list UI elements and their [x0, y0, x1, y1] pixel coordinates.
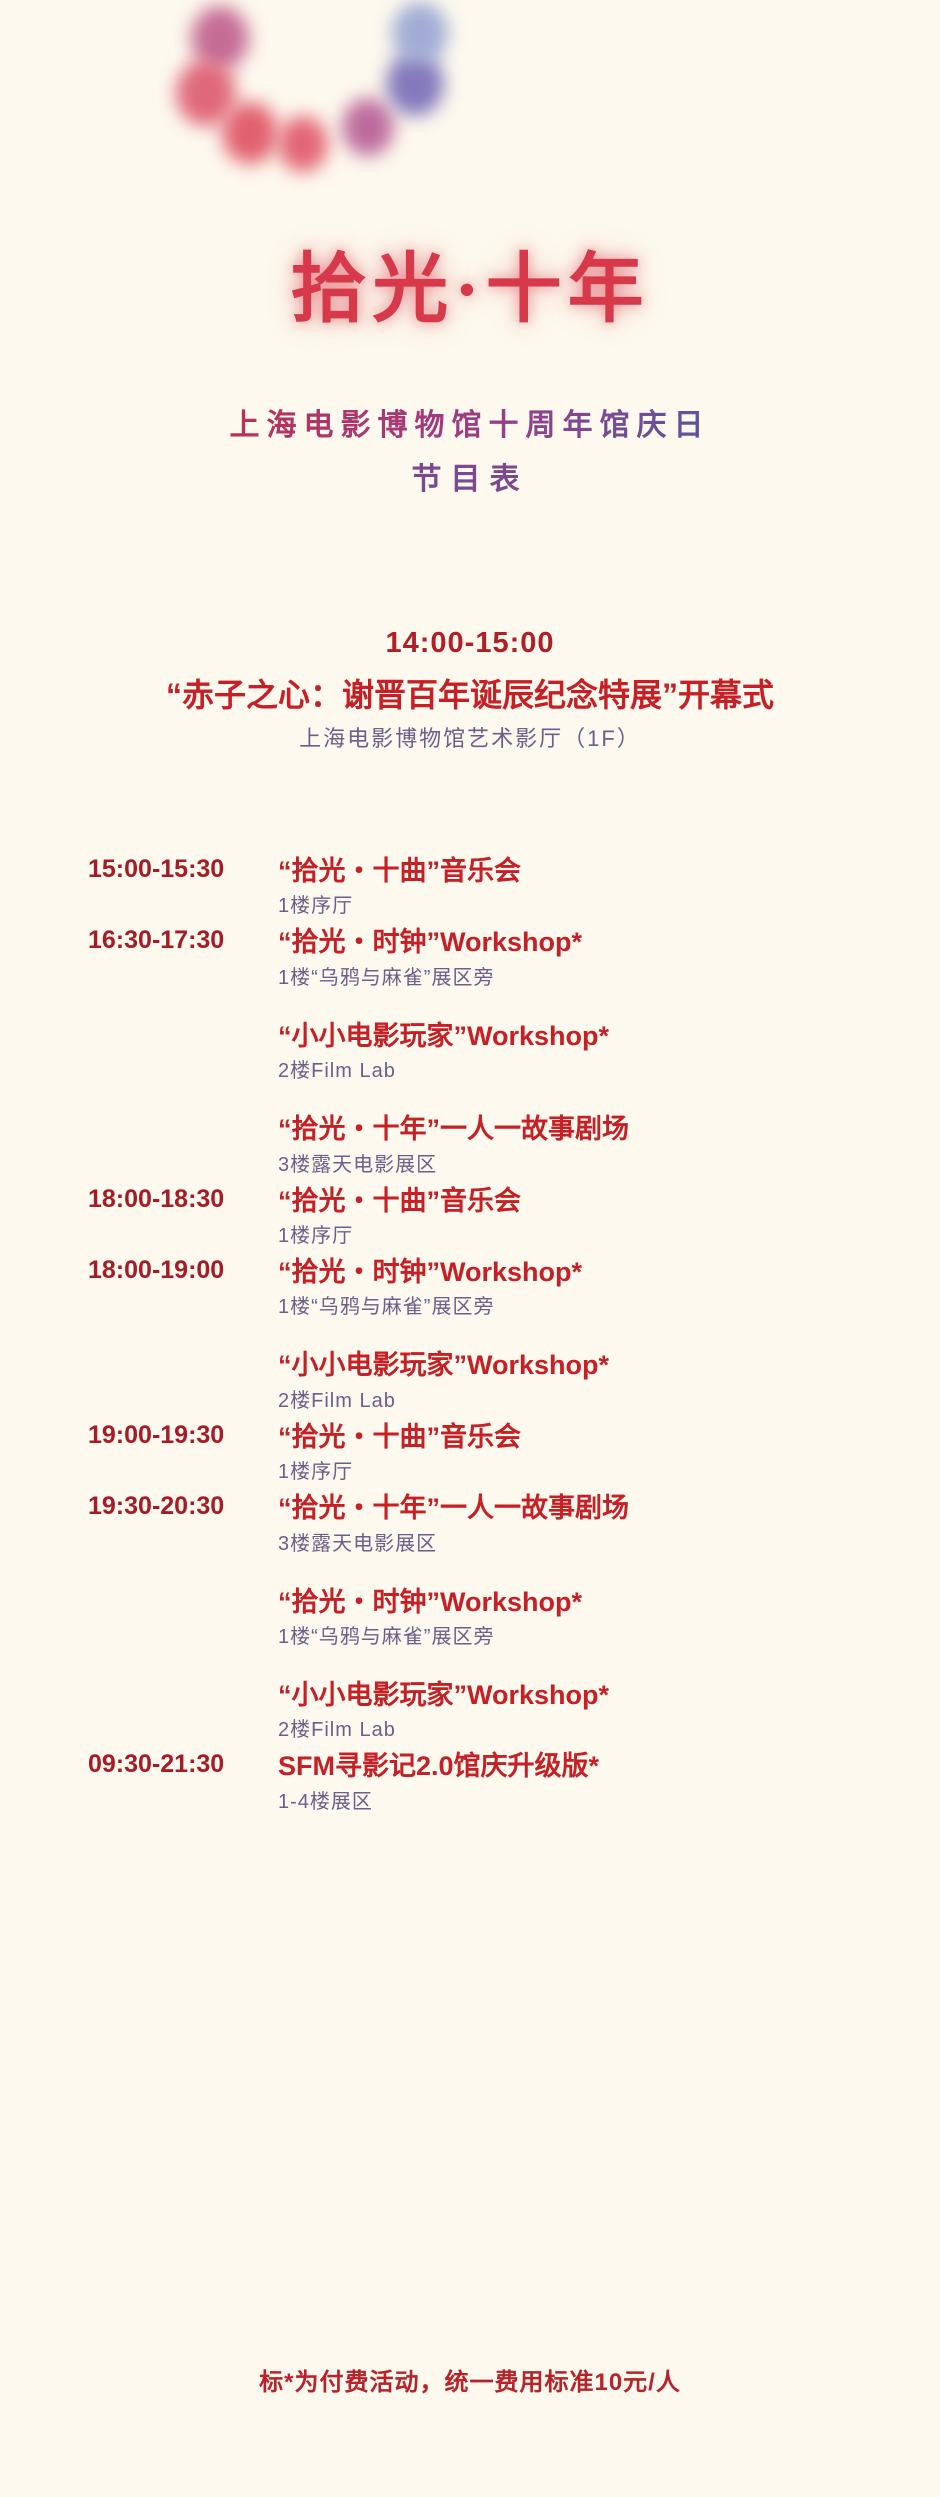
schedule-item-venue: 3楼露天电影展区: [278, 1532, 940, 1556]
schedule-item-title: “拾光・十曲”音乐会: [278, 1185, 940, 1217]
schedule-item-venue: 1-4楼展区: [278, 1790, 940, 1814]
schedule-item-venue: 1楼序厅: [278, 1460, 940, 1484]
schedule-item-title: “拾光・十年”一人一故事剧场: [278, 1492, 940, 1524]
schedule-item[interactable]: “小小电影玩家”Workshop*2楼Film Lab: [278, 1020, 940, 1083]
schedule-item-title: “拾光・十曲”音乐会: [278, 1421, 940, 1453]
schedule-item[interactable]: “小小电影玩家”Workshop*2楼Film Lab: [278, 1679, 940, 1742]
schedule-item-title: “拾光・时钟”Workshop*: [278, 1256, 940, 1288]
schedule-item-venue: 2楼Film Lab: [278, 1389, 940, 1413]
schedule-items: “拾光・时钟”Workshop*1楼“乌鸦与麻雀”展区旁“小小电影玩家”Work…: [278, 926, 940, 1176]
schedule-item-venue: 1楼序厅: [278, 894, 940, 918]
footer-note: 标*为付费活动，统一费用标准10元/人: [0, 2362, 940, 2397]
schedule-item-venue: 3楼露天电影展区: [278, 1153, 940, 1177]
schedule-item-title: “拾光・时钟”Workshop*: [278, 1586, 940, 1618]
schedule-item[interactable]: “拾光・十年”一人一故事剧场3楼露天电影展区: [278, 1113, 940, 1176]
schedule-time: 09:30-21:30: [0, 1750, 278, 1779]
schedule-item[interactable]: “拾光・十曲”音乐会1楼序厅: [278, 1185, 940, 1248]
decorative-dot-arc: [0, 0, 940, 220]
decorative-dot-6: [386, 52, 444, 116]
schedule-item-title: “小小电影玩家”Workshop*: [278, 1020, 940, 1052]
schedule-item-venue: 1楼序厅: [278, 1224, 940, 1248]
decorative-dot-3: [222, 102, 278, 164]
schedule-item-title: SFM寻影记2.0馆庆升级版*: [278, 1750, 940, 1782]
schedule-item[interactable]: “拾光・时钟”Workshop*1楼“乌鸦与麻雀”展区旁: [278, 1586, 940, 1649]
schedule-item-venue: 2楼Film Lab: [278, 1718, 940, 1742]
schedule-item[interactable]: “拾光・十曲”音乐会1楼序厅: [278, 855, 940, 918]
featured-event-venue: 上海电影博物馆艺术影厅（1F）: [0, 725, 940, 754]
schedule-item[interactable]: “拾光・十年”一人一故事剧场3楼露天电影展区: [278, 1492, 940, 1555]
schedule-time: 19:30-20:30: [0, 1492, 278, 1521]
decorative-dot-1: [191, 6, 249, 70]
featured-event-time: 14:00-15:00: [0, 625, 940, 661]
schedule-group: 16:30-17:30“拾光・时钟”Workshop*1楼“乌鸦与麻雀”展区旁“…: [0, 926, 940, 1176]
schedule-list: 15:00-15:30“拾光・十曲”音乐会1楼序厅16:30-17:30“拾光・…: [0, 855, 940, 1822]
schedule-item[interactable]: “小小电影玩家”Workshop*2楼Film Lab: [278, 1349, 940, 1412]
featured-event-title: “赤子之心：谢晋百年诞辰纪念特展”开幕式: [0, 675, 940, 715]
schedule-item-venue: 2楼Film Lab: [278, 1059, 940, 1083]
schedule-time: 19:00-19:30: [0, 1421, 278, 1450]
schedule-item-title: “拾光・十年”一人一故事剧场: [278, 1113, 940, 1145]
schedule-item-venue: 1楼“乌鸦与麻雀”展区旁: [278, 1625, 940, 1649]
schedule-items: “拾光・十曲”音乐会1楼序厅: [278, 855, 940, 918]
decorative-dot-4: [278, 116, 328, 172]
schedule-group: 19:00-19:30“拾光・十曲”音乐会1楼序厅: [0, 1421, 940, 1484]
subtitle-line-2: 节目表: [0, 462, 940, 498]
schedule-time: 18:00-18:30: [0, 1185, 278, 1214]
page-title: 拾光·十年: [0, 252, 940, 328]
schedule-items: “拾光・十曲”音乐会1楼序厅: [278, 1185, 940, 1248]
schedule-item-title: “拾光・十曲”音乐会: [278, 855, 940, 887]
schedule-items: SFM寻影记2.0馆庆升级版*1-4楼展区: [278, 1750, 940, 1813]
decorative-dot-5: [342, 98, 394, 156]
schedule-item[interactable]: “拾光・时钟”Workshop*1楼“乌鸦与麻雀”展区旁: [278, 1256, 940, 1319]
decorative-dot-7: [392, 2, 448, 64]
schedule-time: 18:00-19:00: [0, 1256, 278, 1285]
decorative-dot-2: [176, 60, 236, 126]
schedule-item[interactable]: “拾光・十曲”音乐会1楼序厅: [278, 1421, 940, 1484]
schedule-group: 18:00-19:00“拾光・时钟”Workshop*1楼“乌鸦与麻雀”展区旁“…: [0, 1256, 940, 1413]
schedule-items: “拾光・十曲”音乐会1楼序厅: [278, 1421, 940, 1484]
schedule-item-title: “小小电影玩家”Workshop*: [278, 1349, 940, 1381]
schedule-item-title: “小小电影玩家”Workshop*: [278, 1679, 940, 1711]
schedule-items: “拾光・十年”一人一故事剧场3楼露天电影展区“拾光・时钟”Workshop*1楼…: [278, 1492, 940, 1742]
schedule-time: 16:30-17:30: [0, 926, 278, 955]
schedule-group: 19:30-20:30“拾光・十年”一人一故事剧场3楼露天电影展区“拾光・时钟”…: [0, 1492, 940, 1742]
schedule-group: 18:00-18:30“拾光・十曲”音乐会1楼序厅: [0, 1185, 940, 1248]
featured-event: 14:00-15:00 “赤子之心：谢晋百年诞辰纪念特展”开幕式 上海电影博物馆…: [0, 625, 940, 754]
subtitle-line-1: 上海电影博物馆十周年馆庆日: [0, 408, 940, 444]
schedule-time: 15:00-15:30: [0, 855, 278, 884]
schedule-item-venue: 1楼“乌鸦与麻雀”展区旁: [278, 966, 940, 990]
schedule-items: “拾光・时钟”Workshop*1楼“乌鸦与麻雀”展区旁“小小电影玩家”Work…: [278, 1256, 940, 1413]
schedule-item-venue: 1楼“乌鸦与麻雀”展区旁: [278, 1295, 940, 1319]
schedule-group: 15:00-15:30“拾光・十曲”音乐会1楼序厅: [0, 855, 940, 918]
schedule-item-title: “拾光・时钟”Workshop*: [278, 926, 940, 958]
schedule-item[interactable]: SFM寻影记2.0馆庆升级版*1-4楼展区: [278, 1750, 940, 1813]
schedule-item[interactable]: “拾光・时钟”Workshop*1楼“乌鸦与麻雀”展区旁: [278, 926, 940, 989]
schedule-group: 09:30-21:30SFM寻影记2.0馆庆升级版*1-4楼展区: [0, 1750, 940, 1813]
